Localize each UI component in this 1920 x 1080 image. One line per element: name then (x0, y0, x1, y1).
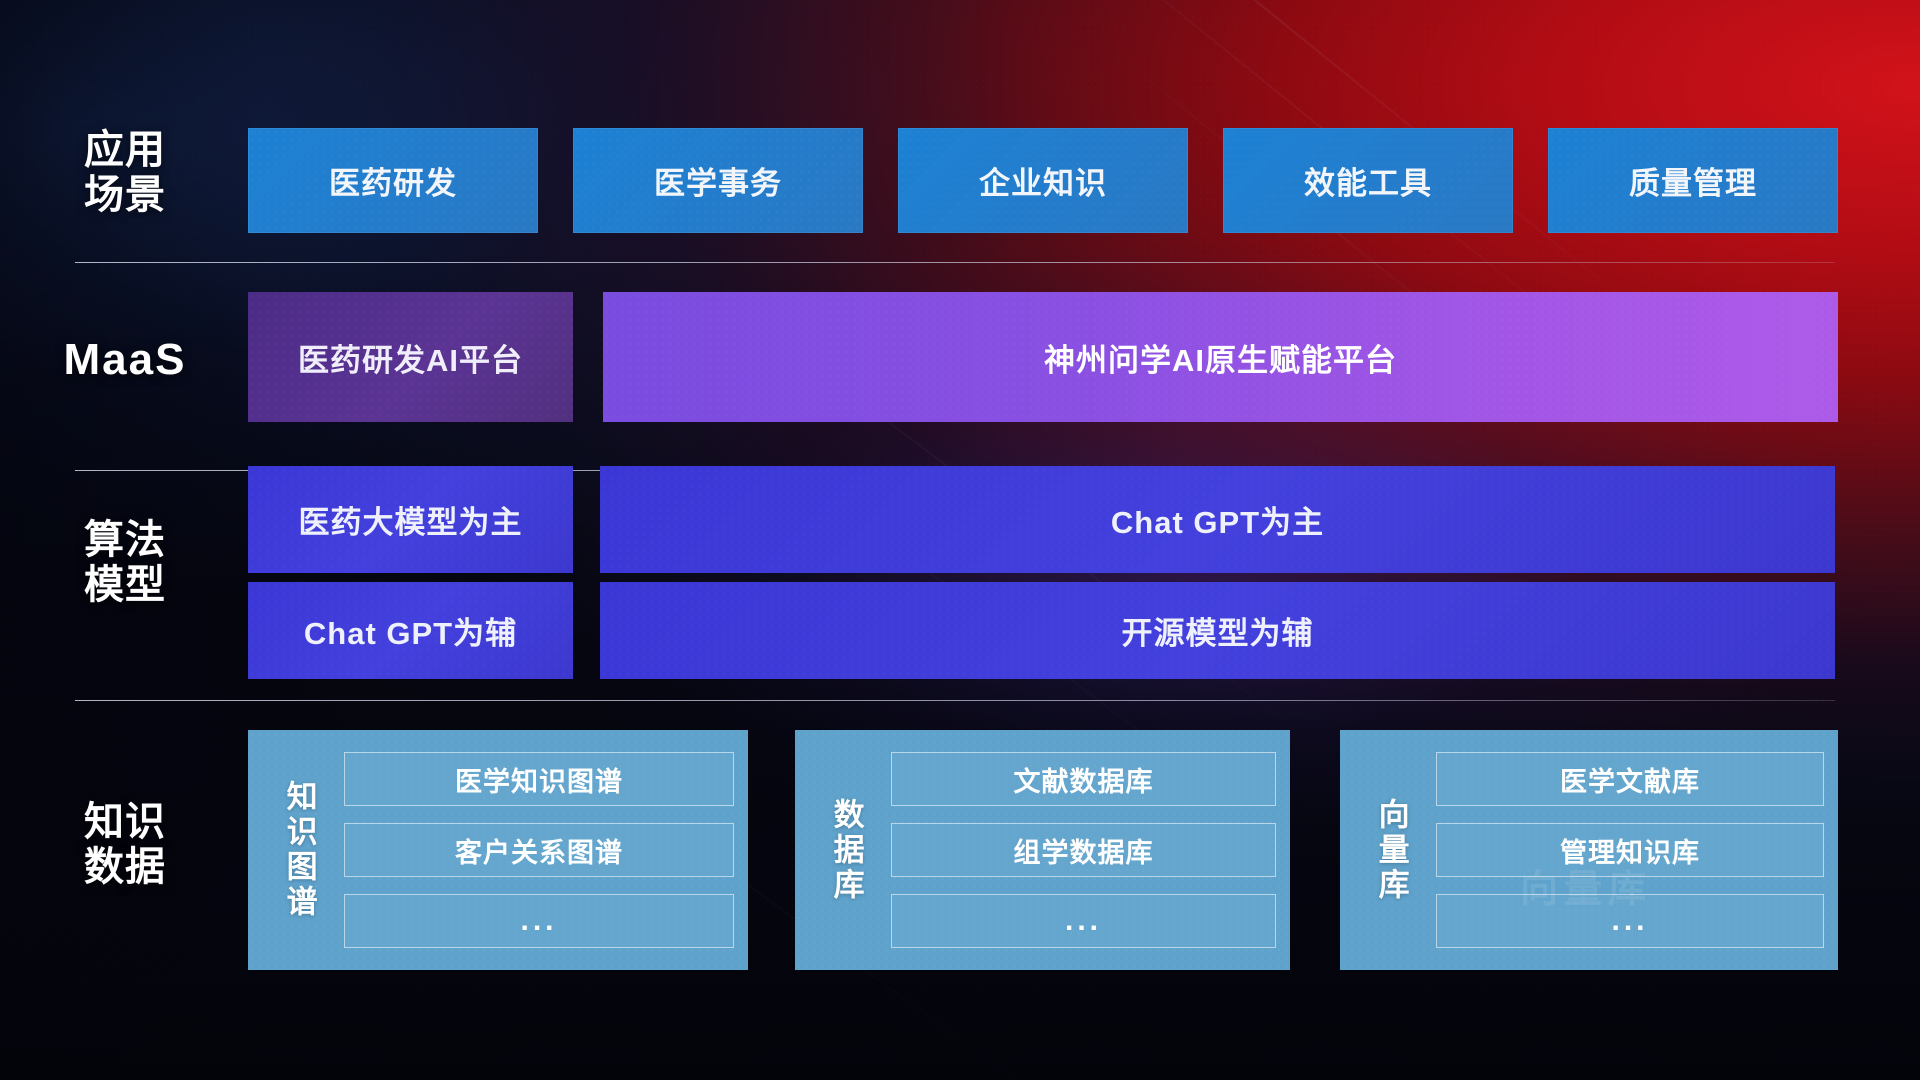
divider-row-3 (75, 700, 1835, 701)
knowledge-group-items: 文献数据库 组学数据库 ... (891, 752, 1276, 948)
algo-box-opensource-secondary[interactable]: 开源模型为辅 (600, 582, 1835, 679)
algo-box-chatgpt-secondary[interactable]: Chat GPT为辅 (248, 582, 573, 679)
divider-row-1 (75, 262, 1835, 263)
algo-box-chatgpt-primary[interactable]: Chat GPT为主 (600, 466, 1835, 573)
knowledge-group-title: 知识图谱 (262, 742, 336, 958)
row-label-maas: MaaS (55, 335, 195, 384)
scene-box-medical-affairs[interactable]: 医学事务 (573, 128, 863, 233)
knowledge-item-more[interactable]: ... (1436, 894, 1824, 948)
knowledge-item-more[interactable]: ... (891, 894, 1276, 948)
scene-box-label: 企业知识 (979, 158, 1107, 203)
knowledge-group-items: 医学知识图谱 客户关系图谱 ... (344, 752, 734, 948)
scene-box-label: 医药研发 (329, 158, 457, 203)
scene-box-label: 质量管理 (1629, 158, 1757, 203)
row-label-knowledge-data: 知识 数据 (55, 800, 195, 890)
knowledge-item-more[interactable]: ... (344, 894, 734, 948)
row-label-algorithm-model: 算法 模型 (55, 518, 195, 608)
knowledge-item[interactable]: 文献数据库 (891, 752, 1276, 806)
knowledge-item[interactable]: 医学知识图谱 (344, 752, 734, 806)
scene-box-quality-management[interactable]: 质量管理 (1548, 128, 1838, 233)
knowledge-item[interactable]: 医学文献库 (1436, 752, 1824, 806)
scene-box-label: 医学事务 (654, 158, 782, 203)
knowledge-item[interactable]: 管理知识库 (1436, 823, 1824, 877)
row-label-application-scenarios: 应用 场景 (55, 128, 195, 218)
scene-box-enterprise-knowledge[interactable]: 企业知识 (898, 128, 1188, 233)
knowledge-item[interactable]: 客户关系图谱 (344, 823, 734, 877)
architecture-diagram: 应用 场景 医药研发 医学事务 企业知识 效能工具 质量管理 MaaS 医药研发… (0, 0, 1920, 1080)
algo-box-label: 医药大模型为主 (299, 497, 523, 542)
algo-box-label: 开源模型为辅 (1122, 608, 1314, 653)
algo-box-pharma-llm-primary[interactable]: 医药大模型为主 (248, 466, 573, 573)
knowledge-group-items: 医学文献库 管理知识库 ... (1436, 752, 1824, 948)
maas-box-label: 医药研发AI平台 (298, 335, 523, 380)
scene-box-drug-rd[interactable]: 医药研发 (248, 128, 538, 233)
knowledge-group-database[interactable]: 数据库 文献数据库 组学数据库 ... (795, 730, 1290, 970)
knowledge-group-title: 数据库 (809, 742, 883, 958)
knowledge-group-title: 向量库 (1354, 742, 1428, 958)
algo-box-label: Chat GPT为辅 (304, 608, 517, 653)
maas-box-label: 神州问学AI原生赋能平台 (1044, 335, 1397, 380)
algo-box-label: Chat GPT为主 (1111, 497, 1324, 542)
knowledge-group-vector-store[interactable]: 向量库 向量库 医学文献库 管理知识库 ... (1340, 730, 1838, 970)
knowledge-group-knowledge-graph[interactable]: 知识图谱 医学知识图谱 客户关系图谱 ... (248, 730, 748, 970)
scene-box-efficiency-tools[interactable]: 效能工具 (1223, 128, 1513, 233)
maas-box-drug-rd-ai-platform[interactable]: 医药研发AI平台 (248, 292, 573, 422)
scene-box-label: 效能工具 (1304, 158, 1432, 203)
maas-box-shenzhou-wenxue-platform[interactable]: 神州问学AI原生赋能平台 (603, 292, 1838, 422)
knowledge-item[interactable]: 组学数据库 (891, 823, 1276, 877)
